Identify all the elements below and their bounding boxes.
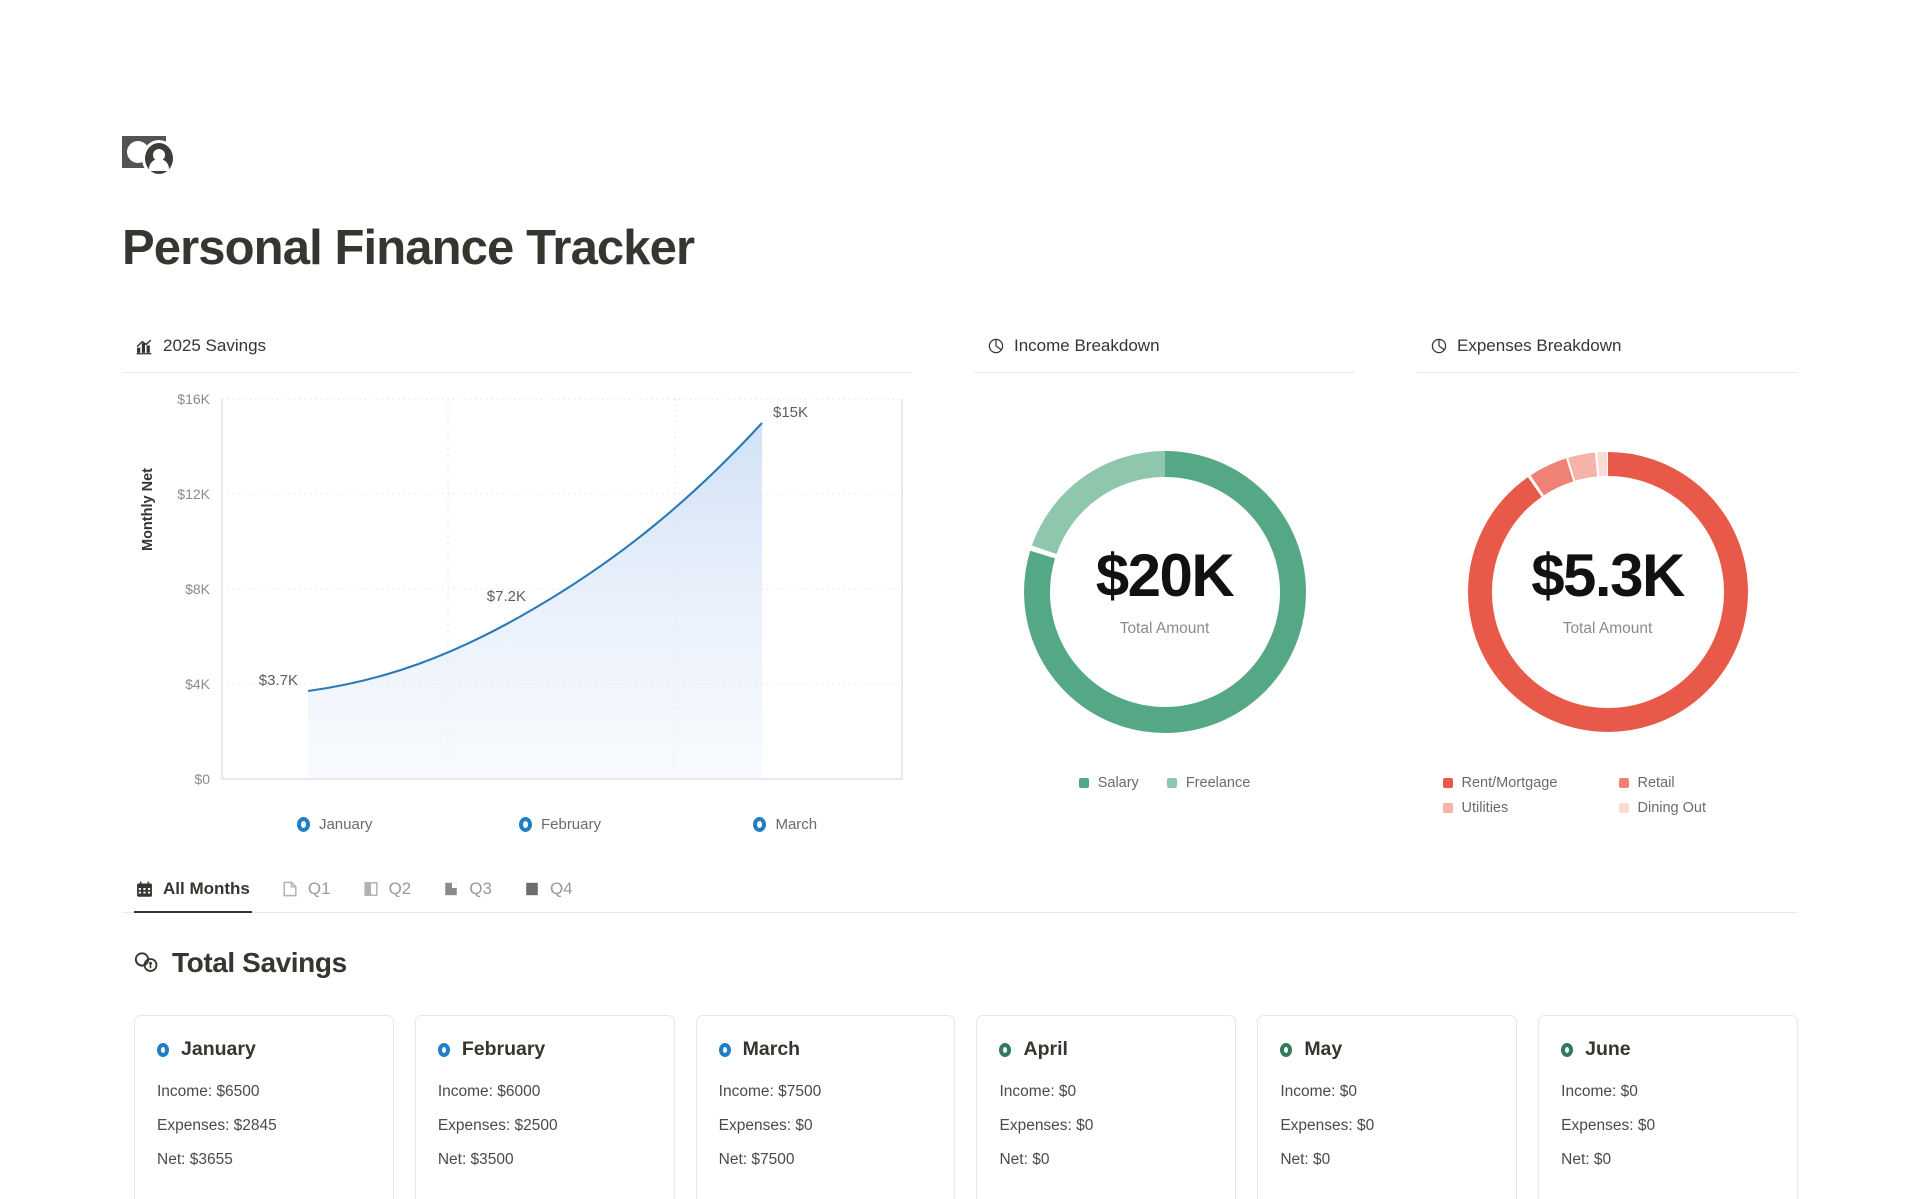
legend-item-dining-out[interactable]: Dining Out [1619,800,1767,816]
legend-label: Salary [1098,775,1139,791]
tab-all-months[interactable]: All Months [134,879,252,913]
card-income: Income: $0 [1561,1083,1775,1101]
card-month-name: January [181,1038,256,1061]
tab-q2[interactable]: Q2 [361,879,414,913]
x-tick-label: February [541,816,601,833]
tab-label: Q4 [550,879,573,899]
svg-text:$16K: $16K [177,391,210,407]
income-total-amount: $20K [1096,546,1233,606]
month-dot-icon [438,1043,450,1057]
svg-text:$8K: $8K [185,581,211,597]
legend-swatch-icon [1079,778,1089,788]
card-net: Net: $0 [999,1151,1213,1169]
savings-chart: Monthly Net [122,373,912,841]
x-tick-march: March [673,816,898,833]
card-net: Net: $0 [1280,1151,1494,1169]
expenses-donut: $5.3K Total Amount [1463,447,1753,737]
card-month-name: June [1585,1038,1631,1061]
card-income: Income: $6000 [438,1083,652,1101]
x-tick-label: January [319,816,372,833]
expenses-donut-area: $5.3K Total Amount Rent/Mortgage Retail [1417,373,1798,841]
legend-label: Freelance [1186,775,1250,791]
income-panel-header: Income Breakdown [974,336,1355,373]
total-savings-heading: Total Savings [122,947,1798,979]
expenses-breakdown-panel: Expenses Breakdown $5.3K [1417,336,1798,841]
card-income: Income: $7500 [719,1083,933,1101]
panels-row: 2025 Savings Monthly Net [0,336,1920,841]
svg-text:$4K: $4K [185,676,211,692]
tab-label: Q3 [469,879,492,899]
expenses-legend: Rent/Mortgage Retail Utilities Dining Ou… [1443,775,1773,816]
card-month-name: April [1023,1038,1067,1061]
card-expenses: Expenses: $0 [719,1117,933,1135]
svg-text:$0: $0 [194,771,210,787]
savings-panel-title: 2025 Savings [163,336,266,356]
svg-text:$12K: $12K [177,486,210,502]
month-dot-icon [719,1043,731,1057]
coins-icon [134,952,160,974]
legend-item-freelance[interactable]: Freelance [1167,775,1250,791]
savings-panel-header: 2025 Savings [122,336,912,373]
section-title-text: Total Savings [172,947,347,979]
card-expenses: Expenses: $2500 [438,1117,652,1135]
legend-label: Retail [1638,775,1675,791]
card-net: Net: $3500 [438,1151,652,1169]
card-expenses: Expenses: $0 [1561,1117,1775,1135]
quarter-3-icon [443,881,459,897]
legend-swatch-icon [1619,803,1629,813]
x-axis-ticks: January February March [222,816,898,833]
income-panel-title: Income Breakdown [1014,336,1160,356]
tab-label: Q2 [389,879,412,899]
tab-q1[interactable]: Q1 [280,879,333,913]
card-expenses: Expenses: $0 [1280,1117,1494,1135]
savings-chart-svg: $16K $12K $8K $4K $0 $3.7K $7.2K $15K [122,389,912,819]
card-net: Net: $3655 [157,1151,371,1169]
quarter-4-icon [524,881,540,897]
tab-label: All Months [163,879,250,899]
card-net: Net: $0 [1561,1151,1775,1169]
area-fill [308,423,762,779]
legend-swatch-icon [1167,778,1177,788]
monthly-cards: January Income: $6500 Expenses: $2845 Ne… [122,1015,1798,1199]
legend-item-rent-mortgage[interactable]: Rent/Mortgage [1443,775,1591,791]
month-dot-icon [1561,1043,1573,1057]
period-tabs: All Months Q1 Q2 [122,879,1798,913]
page-title: Personal Finance Tracker [122,220,1920,276]
calendar-icon [136,881,153,898]
legend-swatch-icon [1443,778,1453,788]
pie-chart-icon [988,338,1004,354]
point-marker-icon [519,817,532,832]
card-expenses: Expenses: $2845 [157,1117,371,1135]
legend-item-retail[interactable]: Retail [1619,775,1767,791]
month-card-march[interactable]: March Income: $7500 Expenses: $0 Net: $7… [696,1015,956,1199]
legend-label: Dining Out [1638,800,1707,816]
expenses-total-amount: $5.3K [1531,546,1684,606]
legend-swatch-icon [1619,778,1629,788]
legend-label: Utilities [1462,800,1509,816]
svg-text:$3.7K: $3.7K [259,672,298,689]
legend-item-utilities[interactable]: Utilities [1443,800,1591,816]
card-header: February [438,1038,652,1061]
svg-text:$7.2K: $7.2K [487,588,526,605]
svg-text:$15K: $15K [773,404,808,421]
page-root: Personal Finance Tracker 2025 Savings [0,0,1920,1199]
card-month-name: March [743,1038,800,1061]
month-card-june[interactable]: June Income: $0 Expenses: $0 Net: $0 [1538,1015,1798,1199]
card-header: June [1561,1038,1775,1061]
month-card-january[interactable]: January Income: $6500 Expenses: $2845 Ne… [134,1015,394,1199]
y-axis-label: Monthly Net [140,468,156,551]
card-income: Income: $6500 [157,1083,371,1101]
card-header: May [1280,1038,1494,1061]
x-tick-february: February [447,816,672,833]
x-tick-label: March [775,816,817,833]
card-header: January [157,1038,371,1061]
y-tick-labels: $16K $12K $8K $4K $0 [177,391,210,787]
legend-swatch-icon [1443,803,1453,813]
x-tick-january: January [222,816,447,833]
income-donut-center: $20K Total Amount [1020,447,1310,737]
page-header: Personal Finance Tracker [0,0,1920,276]
card-header: April [999,1038,1213,1061]
tab-q4[interactable]: Q4 [522,879,575,913]
point-marker-icon [297,817,310,832]
expenses-panel-header: Expenses Breakdown [1417,336,1798,373]
month-dot-icon [999,1043,1011,1057]
card-header: March [719,1038,933,1061]
pie-chart-icon [1431,338,1447,354]
card-month-name: May [1304,1038,1342,1061]
income-donut: $20K Total Amount [1020,447,1310,737]
month-dot-icon [157,1043,169,1057]
income-total-caption: Total Amount [1120,620,1210,638]
expenses-panel-title: Expenses Breakdown [1457,336,1621,356]
savings-panel: 2025 Savings Monthly Net [122,336,912,841]
expenses-total-caption: Total Amount [1563,620,1653,638]
quarter-2-icon [363,881,379,897]
month-dot-icon [1280,1043,1292,1057]
legend-item-salary[interactable]: Salary [1079,775,1139,791]
month-card-february[interactable]: February Income: $6000 Expenses: $2500 N… [415,1015,675,1199]
tab-q3[interactable]: Q3 [441,879,494,913]
month-card-april[interactable]: April Income: $0 Expenses: $0 Net: $0 [976,1015,1236,1199]
card-net: Net: $7500 [719,1151,933,1169]
card-income: Income: $0 [999,1083,1213,1101]
income-donut-area: $20K Total Amount Salary Freelance [974,373,1355,841]
card-income: Income: $0 [1280,1083,1494,1101]
card-month-name: February [462,1038,545,1061]
income-legend: Salary Freelance [1079,775,1251,791]
money-person-icon [122,128,176,182]
bar-chart-icon [136,338,153,355]
expenses-donut-center: $5.3K Total Amount [1463,447,1753,737]
month-card-may[interactable]: May Income: $0 Expenses: $0 Net: $0 [1257,1015,1517,1199]
income-breakdown-panel: Income Breakdown $20K Total Amount [974,336,1355,841]
quarter-1-icon [282,881,298,897]
legend-label: Rent/Mortgage [1462,775,1558,791]
card-expenses: Expenses: $0 [999,1117,1213,1135]
point-marker-icon [753,817,766,832]
tab-label: Q1 [308,879,331,899]
